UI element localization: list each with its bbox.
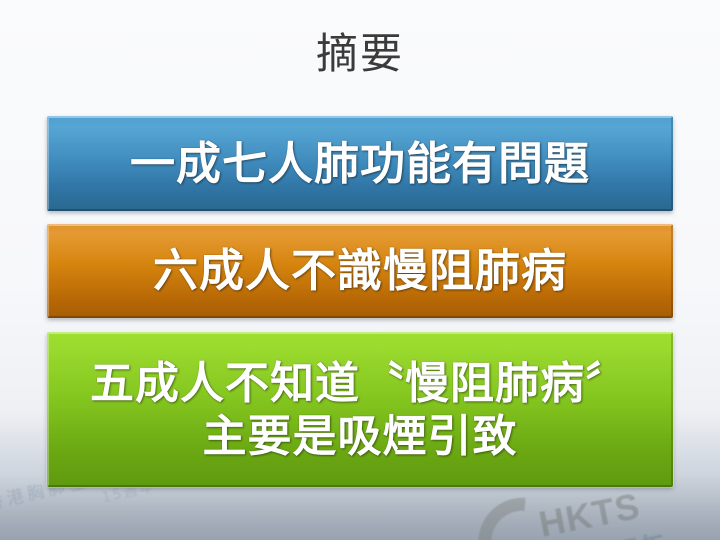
slide-title: 摘要 xyxy=(0,28,720,80)
statement-box-green-line1: 五成人不知道〝慢阻肺病〞 xyxy=(90,358,630,409)
statement-box-orange-text: 六成人不識慢阻肺病 xyxy=(47,244,673,298)
statement-box-green-line2: 主要是吸煙引致 xyxy=(57,410,663,463)
hkts-ring-logo-icon xyxy=(460,480,584,540)
statement-box-green-text: 五成人不知道〝慢阻肺病〞 主要是吸煙引致 xyxy=(47,357,673,463)
statement-box-blue-text: 一成七人肺功能有問題 xyxy=(47,137,673,191)
presentation-slide: 香港胸肺基金會 ANNIVERSARY 15週年 HKTS 港胸肺學會25週年 … xyxy=(0,0,720,540)
statement-box-orange: 六成人不識慢阻肺病 xyxy=(47,224,673,318)
watermark-right-cjk: 港胸肺學會25週年 xyxy=(448,525,669,540)
statement-box-blue: 一成七人肺功能有問題 xyxy=(47,116,673,211)
hkts-logo-text: HKTS xyxy=(536,485,644,540)
statement-box-green: 五成人不知道〝慢阻肺病〞 主要是吸煙引致 xyxy=(47,332,673,487)
